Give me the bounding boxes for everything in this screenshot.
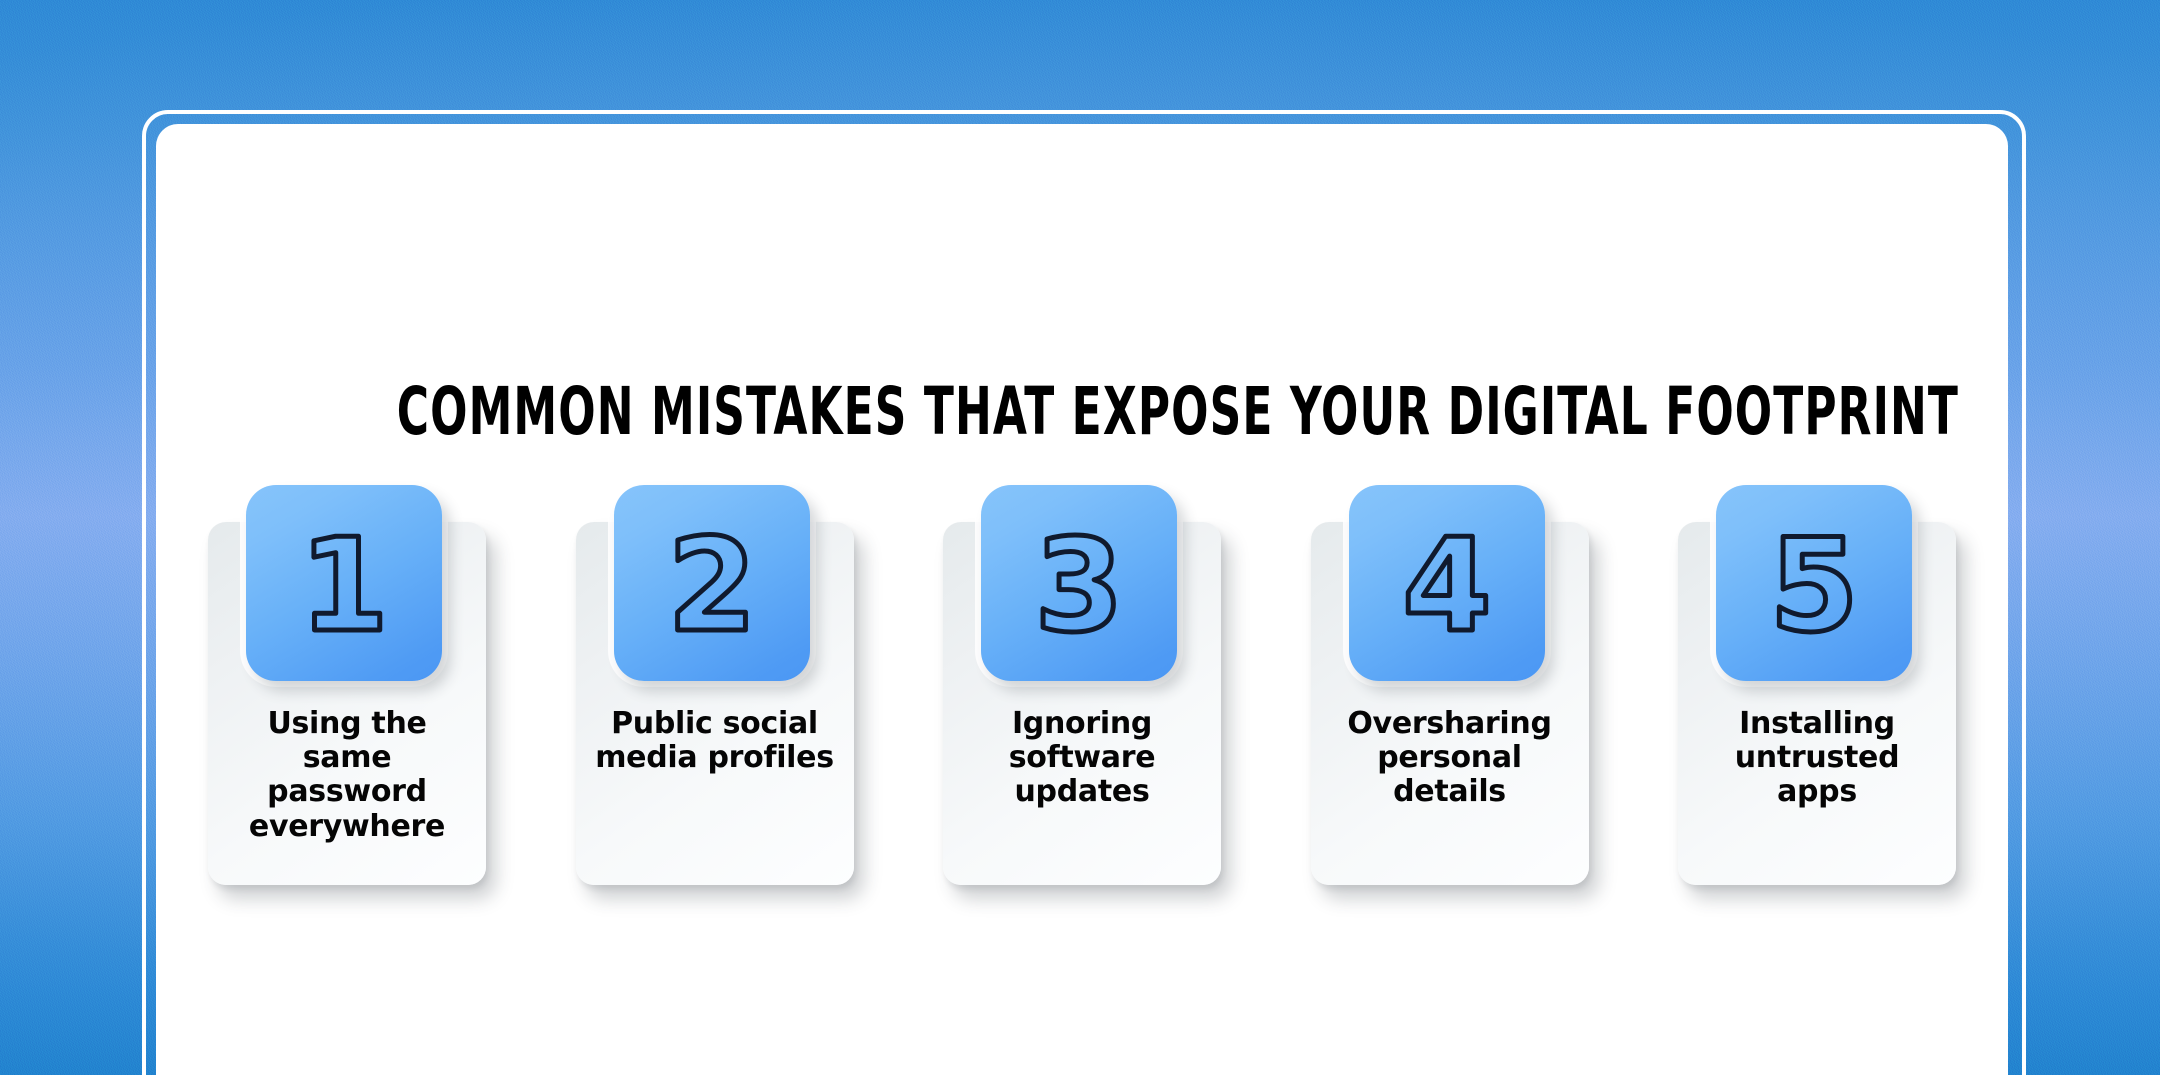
card-label-4: Oversharing personal details xyxy=(1325,707,1575,810)
badge-numeral: 2 xyxy=(667,512,756,658)
number-badge-1: 1 xyxy=(246,485,442,681)
number-two-outline-icon: 2 xyxy=(637,508,787,658)
mistake-card-3[interactable]: 3 Ignoring software updates xyxy=(943,485,1221,885)
mistakes-card-row: 1 Using the same password everywhere 2 P… xyxy=(208,485,1956,885)
number-five-outline-icon: 5 xyxy=(1739,508,1889,658)
number-three-outline-icon: 3 xyxy=(1004,508,1154,658)
content-panel: COMMON MISTAKES THAT EXPOSE YOUR DIGITAL… xyxy=(156,124,2008,1075)
badge-numeral: 4 xyxy=(1402,512,1491,658)
card-label-3: Ignoring software updates xyxy=(957,707,1207,810)
card-label-5: Installing untrusted apps xyxy=(1692,707,1942,810)
number-badge-2: 2 xyxy=(614,485,810,681)
mistake-card-2[interactable]: 2 Public social media profiles xyxy=(576,485,854,885)
page-title: COMMON MISTAKES THAT EXPOSE YOUR DIGITAL… xyxy=(397,379,1767,445)
number-one-outline-icon: 1 xyxy=(269,508,419,658)
number-badge-3: 3 xyxy=(981,485,1177,681)
badge-numeral: 5 xyxy=(1769,512,1858,658)
number-badge-4: 4 xyxy=(1349,485,1545,681)
card-label-2: Public social media profiles xyxy=(590,707,840,775)
number-four-outline-icon: 4 xyxy=(1372,508,1522,658)
badge-numeral: 1 xyxy=(299,512,388,658)
mistake-card-4[interactable]: 4 Oversharing personal details xyxy=(1311,485,1589,885)
number-badge-5: 5 xyxy=(1716,485,1912,681)
mistake-card-5[interactable]: 5 Installing untrusted apps xyxy=(1678,485,1956,885)
badge-numeral: 3 xyxy=(1034,512,1123,658)
mistake-card-1[interactable]: 1 Using the same password everywhere xyxy=(208,485,486,885)
card-label-1: Using the same password everywhere xyxy=(222,707,472,844)
infographic-canvas: COMMON MISTAKES THAT EXPOSE YOUR DIGITAL… xyxy=(0,0,2160,1075)
